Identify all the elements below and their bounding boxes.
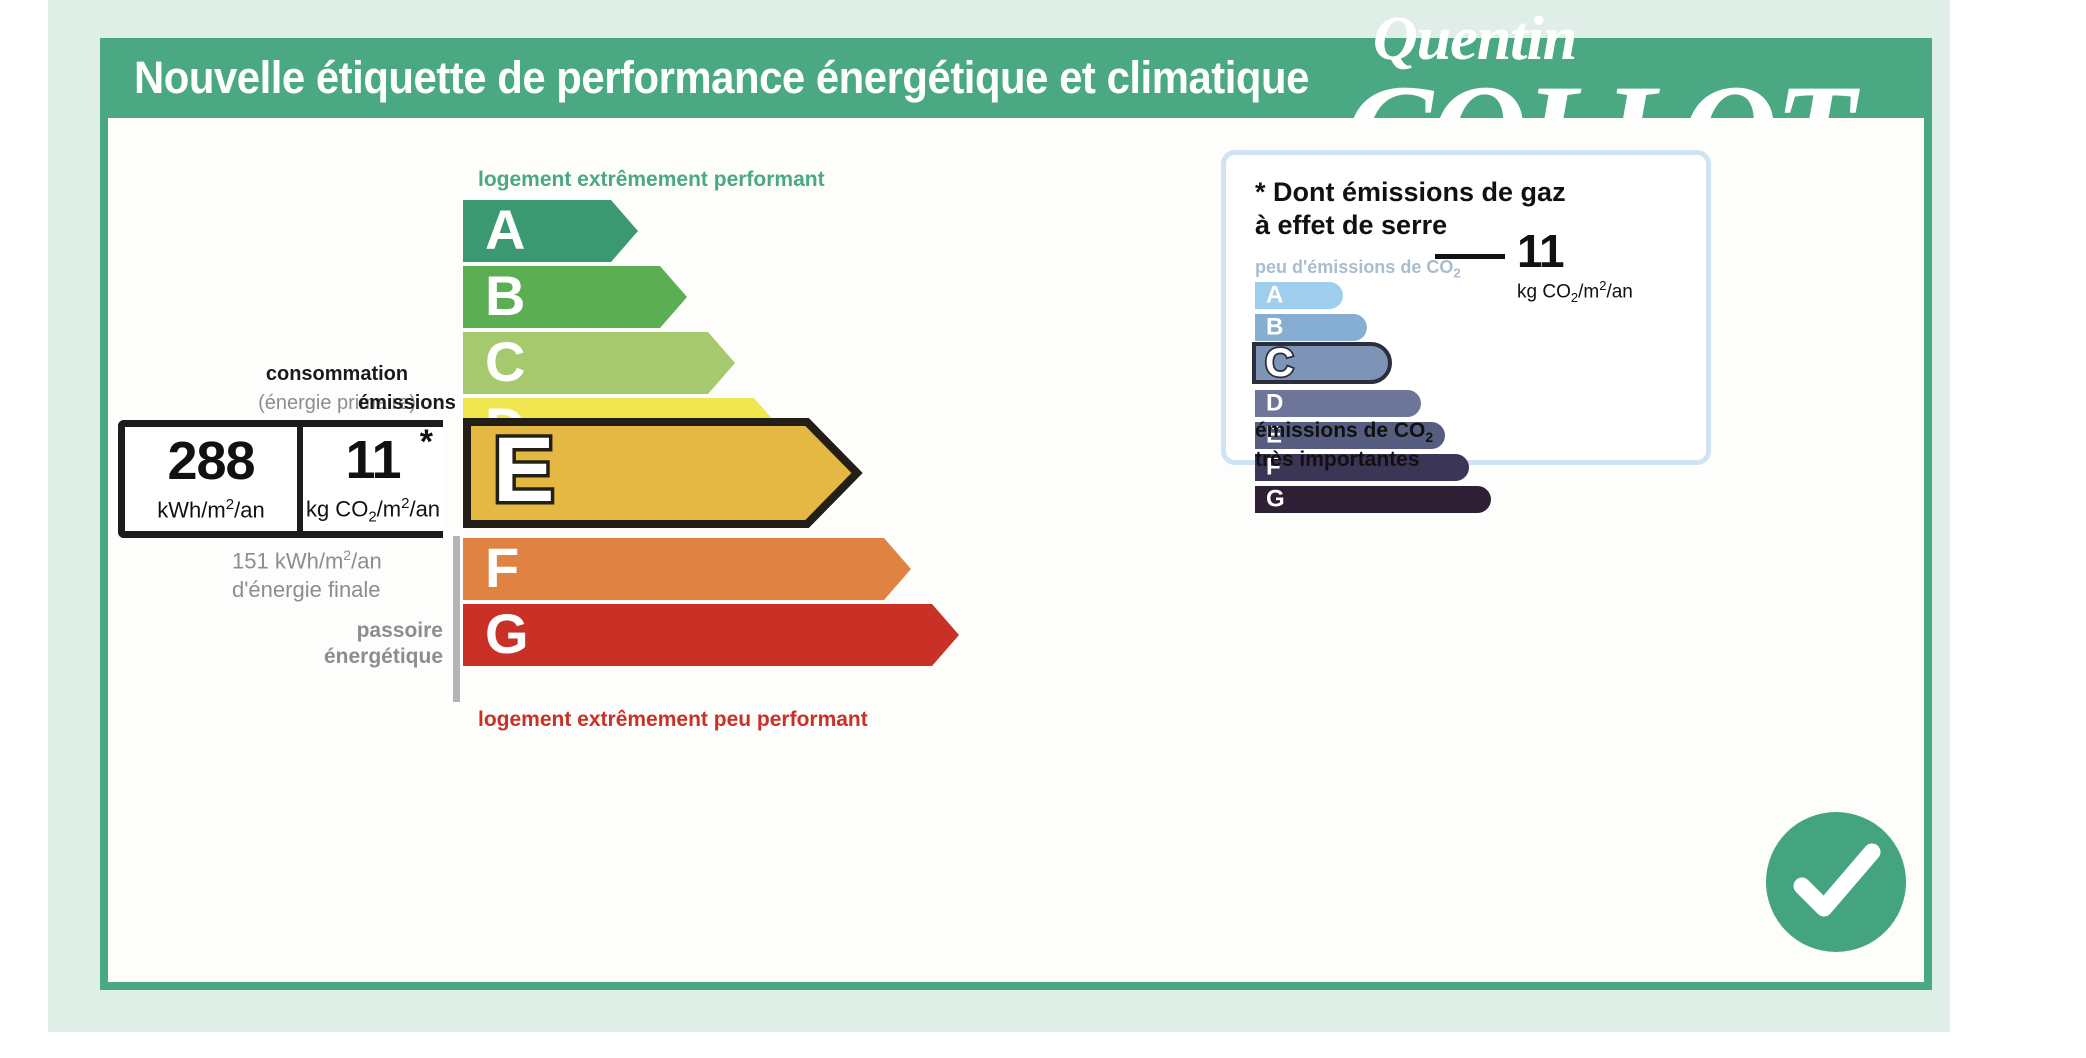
energy-row-b[interactable]: B <box>463 266 687 328</box>
passoire-label-line1: passoire <box>293 618 443 644</box>
co2-letter-b: B <box>1266 315 1283 339</box>
co2-bottom-line2: très importantes <box>1255 447 1433 473</box>
co2-row-d[interactable]: D <box>1255 390 1421 417</box>
consumption-cell: 288 kWh/m2/an <box>125 427 297 531</box>
final-energy-note: 151 kWh/m2/an d'énergie finale <box>232 546 452 605</box>
co2-letter-g: G <box>1266 487 1285 511</box>
arrow-shape-f <box>463 538 911 600</box>
header-band: Nouvelle étiquette de performance énergé… <box>100 38 1932 118</box>
page-title: Nouvelle étiquette de performance énergé… <box>134 52 1309 104</box>
energy-row-f[interactable]: F <box>463 538 911 600</box>
co2-row-g[interactable]: G <box>1255 486 1491 513</box>
co2-bottom-line1: émissions de CO2 <box>1255 418 1433 447</box>
validation-badge <box>1766 812 1906 952</box>
energy-arrow-b: B <box>463 266 687 328</box>
passoire-label-line2: énergétique <box>293 644 443 670</box>
energy-arrow-g: G <box>463 604 959 666</box>
co2-top-caption: peu d'émissions de CO2 <box>1255 257 1461 281</box>
co2-row-a[interactable]: A <box>1255 282 1343 309</box>
asterisk-marker: * <box>420 425 433 459</box>
energy-arrow-e: E <box>463 418 863 522</box>
energy-arrow-c: C <box>463 332 735 394</box>
consumption-unit: kWh/m2/an <box>157 496 264 523</box>
emission-cell: * 11 kg CO2/m2/an <box>297 427 443 531</box>
energy-letter-f: F <box>485 540 519 596</box>
scale-top-caption: logement extrêmement performant <box>478 168 825 192</box>
scale-bottom-caption: logement extrêmement peu performant <box>478 708 868 732</box>
co2-row-c-selected[interactable]: C <box>1252 342 1392 384</box>
co2-panel: * Dont émissions de gaz à effet de serre… <box>1221 150 1711 465</box>
energy-letter-c: C <box>485 334 525 390</box>
energy-row-c[interactable]: C <box>463 332 735 394</box>
co2-letter-c: C <box>1265 343 1294 383</box>
consumption-label: consommation <box>232 363 442 386</box>
energy-arrow-f: F <box>463 538 911 600</box>
arrow-shape-g <box>463 604 959 666</box>
co2-row-b[interactable]: B <box>1255 314 1367 341</box>
co2-letter-d: D <box>1266 391 1283 415</box>
label-card: logement extrêmement performant logement… <box>100 118 1932 990</box>
energy-letter-g: G <box>485 606 529 662</box>
energy-letter-a: A <box>485 202 525 258</box>
energy-letter-e: E <box>493 424 554 516</box>
co2-value-unit: kg CO2/m2/an <box>1517 278 1633 305</box>
co2-value: 11 <box>1517 228 1564 274</box>
passoire-label: passoire énergétique <box>293 618 443 671</box>
passoire-indicator-bar <box>453 536 460 702</box>
emission-unit: kg CO2/m2/an <box>306 495 440 526</box>
readings-box: 288 kWh/m2/an * 11 kg CO2/m2/an <box>118 420 443 538</box>
consumption-value: 288 <box>167 434 254 488</box>
energy-arrow-a: A <box>463 200 638 262</box>
check-icon <box>1766 812 1906 952</box>
final-energy-line2: d'énergie finale <box>232 576 452 605</box>
emission-value: 11 <box>345 433 400 487</box>
final-energy-line1: 151 kWh/m2/an <box>232 546 452 576</box>
co2-leader-line <box>1435 254 1505 259</box>
co2-letter-a: A <box>1266 283 1283 307</box>
emissions-label: émissions <box>358 392 498 415</box>
energy-row-a[interactable]: A <box>463 200 638 262</box>
energy-letter-b: B <box>485 268 525 324</box>
energy-row-g[interactable]: G <box>463 604 959 666</box>
co2-bottom-caption: émissions de CO2 très importantes <box>1255 418 1433 473</box>
co2-title-line1: * Dont émissions de gaz <box>1255 176 1585 209</box>
energy-row-e-selected[interactable]: E <box>463 418 863 522</box>
